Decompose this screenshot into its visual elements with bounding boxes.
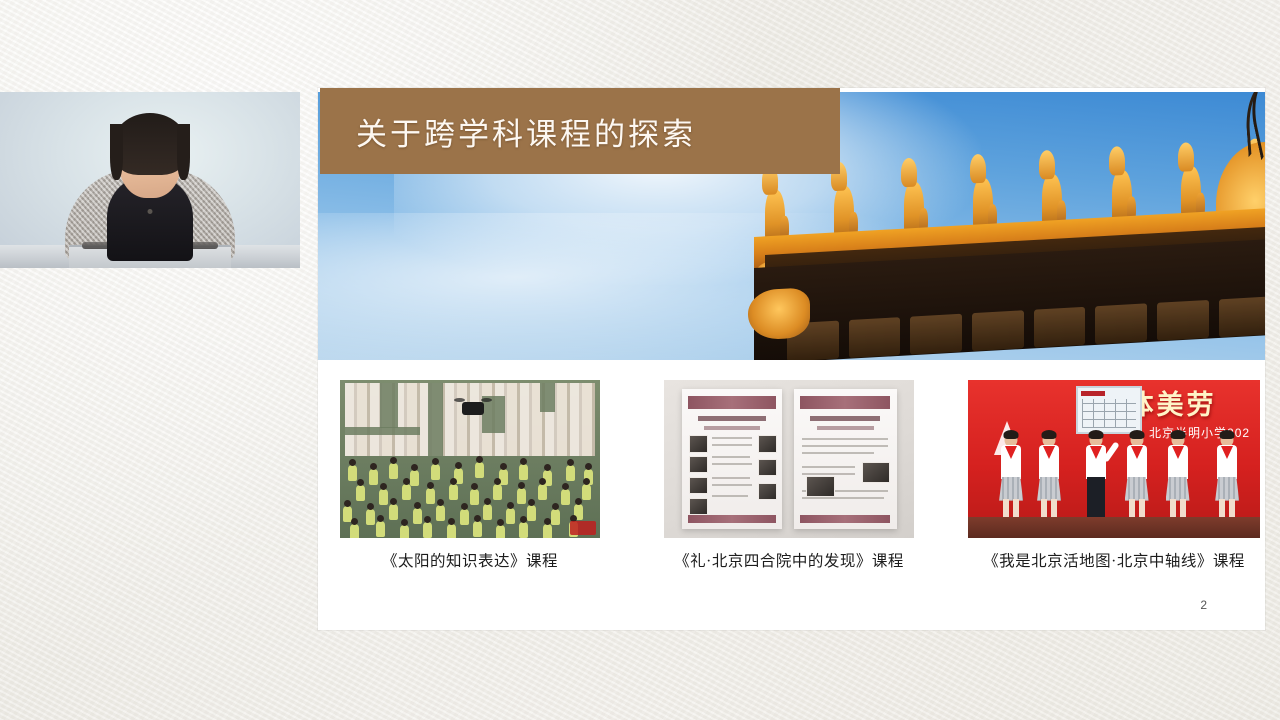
booklet-page-left <box>682 389 782 528</box>
slide-page-number: 2 <box>1200 598 1207 612</box>
student-figure <box>426 488 435 504</box>
student-figure <box>376 521 385 537</box>
student-crowd <box>340 446 600 538</box>
student-figure <box>475 462 484 478</box>
text-line <box>712 456 750 458</box>
page-footer-band <box>800 515 890 523</box>
student-figure <box>356 485 365 501</box>
student-figure <box>350 524 359 538</box>
student-figure <box>517 488 526 504</box>
student-figure <box>566 465 575 481</box>
page-header-band <box>688 396 776 409</box>
artwork-gaps <box>345 383 595 456</box>
student-figure <box>423 522 432 538</box>
student-skirt <box>1037 477 1061 501</box>
student-figure <box>413 508 422 524</box>
student-figure <box>538 484 547 500</box>
page-footer-band <box>688 515 776 523</box>
page-title-line <box>698 416 766 422</box>
course-card-3[interactable]: 智体美劳 北京半明小学202 <box>968 380 1260 571</box>
text-line <box>802 452 874 454</box>
red-scarf-icon <box>1090 446 1102 459</box>
course-card-2[interactable]: 《礼·北京四合院中的发现》课程 <box>664 380 914 571</box>
course-image-1 <box>340 380 600 538</box>
page-photo <box>689 456 708 473</box>
page-photo <box>806 476 835 497</box>
text-line <box>712 444 752 446</box>
stage-floor <box>968 517 1260 538</box>
student-legs <box>1041 499 1057 519</box>
rafter <box>848 317 900 358</box>
page-header-band <box>800 396 890 409</box>
student-figure <box>473 521 482 537</box>
page-photo <box>689 498 708 515</box>
student-figure <box>369 469 378 485</box>
rafter <box>1157 300 1209 341</box>
student-figure <box>389 504 398 520</box>
student-skirt <box>1125 477 1149 501</box>
student-figure <box>410 470 419 486</box>
screen-root: 关于跨学科课程的探索 <box>0 0 1280 720</box>
course-caption-1: 《太阳的知识表达》课程 <box>340 549 600 571</box>
student-figure <box>449 484 458 500</box>
text-line <box>712 463 752 465</box>
student-figure <box>496 525 505 538</box>
student-figure <box>561 489 570 505</box>
course-image-2 <box>664 380 914 538</box>
artwork-gap <box>345 427 420 436</box>
student-figure <box>436 505 445 521</box>
student-figure <box>400 525 409 538</box>
student-figure <box>551 509 560 525</box>
red-scarf-icon <box>1172 446 1184 459</box>
course-card-1[interactable]: 《太阳的知识表达》课程 <box>340 380 600 571</box>
student-skirt <box>1215 477 1239 501</box>
presenter-video-panel[interactable] <box>0 92 300 268</box>
poster-grid <box>1082 399 1136 428</box>
eave-beast-head <box>748 287 810 341</box>
rafter <box>972 310 1024 351</box>
artwork-gap <box>380 383 397 428</box>
student-figure <box>470 489 479 505</box>
student-legs <box>1003 499 1019 519</box>
student-figure <box>348 465 357 481</box>
student-figure <box>447 524 456 538</box>
student-figure <box>543 524 552 538</box>
backdrop-subtitle: 北京半明小学202 <box>1149 424 1250 441</box>
page-title: 关于跨学科课程的探索 <box>356 109 696 154</box>
text-line <box>802 473 855 475</box>
student-legs <box>1170 499 1186 519</box>
held-poster <box>1076 386 1142 434</box>
text-line <box>712 495 748 497</box>
student-figure <box>519 464 528 480</box>
photo-watermark <box>570 521 596 535</box>
course-caption-3: 《我是北京活地图·北京中轴线》课程 <box>968 549 1260 571</box>
student-figure <box>493 484 502 500</box>
student-skirt <box>1166 477 1190 501</box>
student-figure <box>582 484 591 500</box>
student-figure <box>389 463 398 479</box>
student-figure <box>402 484 411 500</box>
red-scarf-icon <box>1005 446 1017 459</box>
page-photo <box>689 435 708 452</box>
student-figure <box>343 506 352 522</box>
student-figure <box>431 464 440 480</box>
course-caption-2: 《礼·北京四合院中的发现》课程 <box>664 549 914 571</box>
student-figure <box>379 489 388 505</box>
text-line <box>802 466 855 468</box>
page-photo <box>758 459 777 476</box>
red-scarf-icon <box>1131 446 1143 459</box>
slide-title-banner: 关于跨学科课程的探索 <box>320 88 840 174</box>
course-thumbnail-row: 《太阳的知识表达》课程 <box>318 380 1265 580</box>
rafter <box>1033 306 1085 347</box>
presentation-slide[interactable]: 关于跨学科课程的探索 <box>318 88 1265 630</box>
page-photo <box>758 435 777 452</box>
student-legs <box>1129 499 1145 519</box>
text-line <box>712 437 752 439</box>
text-line <box>802 445 888 447</box>
dragon-horn-icon <box>1243 92 1265 158</box>
student-figure <box>483 504 492 520</box>
drone-icon <box>462 402 484 415</box>
student-skirt <box>999 477 1023 501</box>
booklet-page-right <box>794 389 897 528</box>
student-legs <box>1219 499 1235 519</box>
rafter <box>1095 303 1147 344</box>
text-line <box>712 484 752 486</box>
artwork-gap <box>540 383 555 412</box>
page-subtitle-line <box>817 426 874 430</box>
page-title-line <box>810 416 880 422</box>
student-figure <box>506 508 515 524</box>
student-figure <box>519 522 528 538</box>
student-figure <box>460 509 469 525</box>
red-scarf-icon <box>1221 446 1233 459</box>
text-line <box>802 438 888 440</box>
page-subtitle-line <box>704 426 760 430</box>
red-scarf-icon <box>1043 446 1055 459</box>
course-image-3: 智体美劳 北京半明小学202 <box>968 380 1260 538</box>
student-figure <box>366 509 375 525</box>
artwork-gap <box>428 383 443 456</box>
page-photo <box>689 477 708 494</box>
text-line <box>712 477 750 479</box>
page-photo <box>758 483 777 500</box>
page-photo <box>862 462 891 483</box>
rafter <box>910 313 962 354</box>
student-trousers <box>1087 477 1105 519</box>
presenter-hair <box>113 113 187 175</box>
student-figure <box>527 505 536 521</box>
rafter <box>1218 296 1265 337</box>
temple-roof <box>754 155 1265 360</box>
